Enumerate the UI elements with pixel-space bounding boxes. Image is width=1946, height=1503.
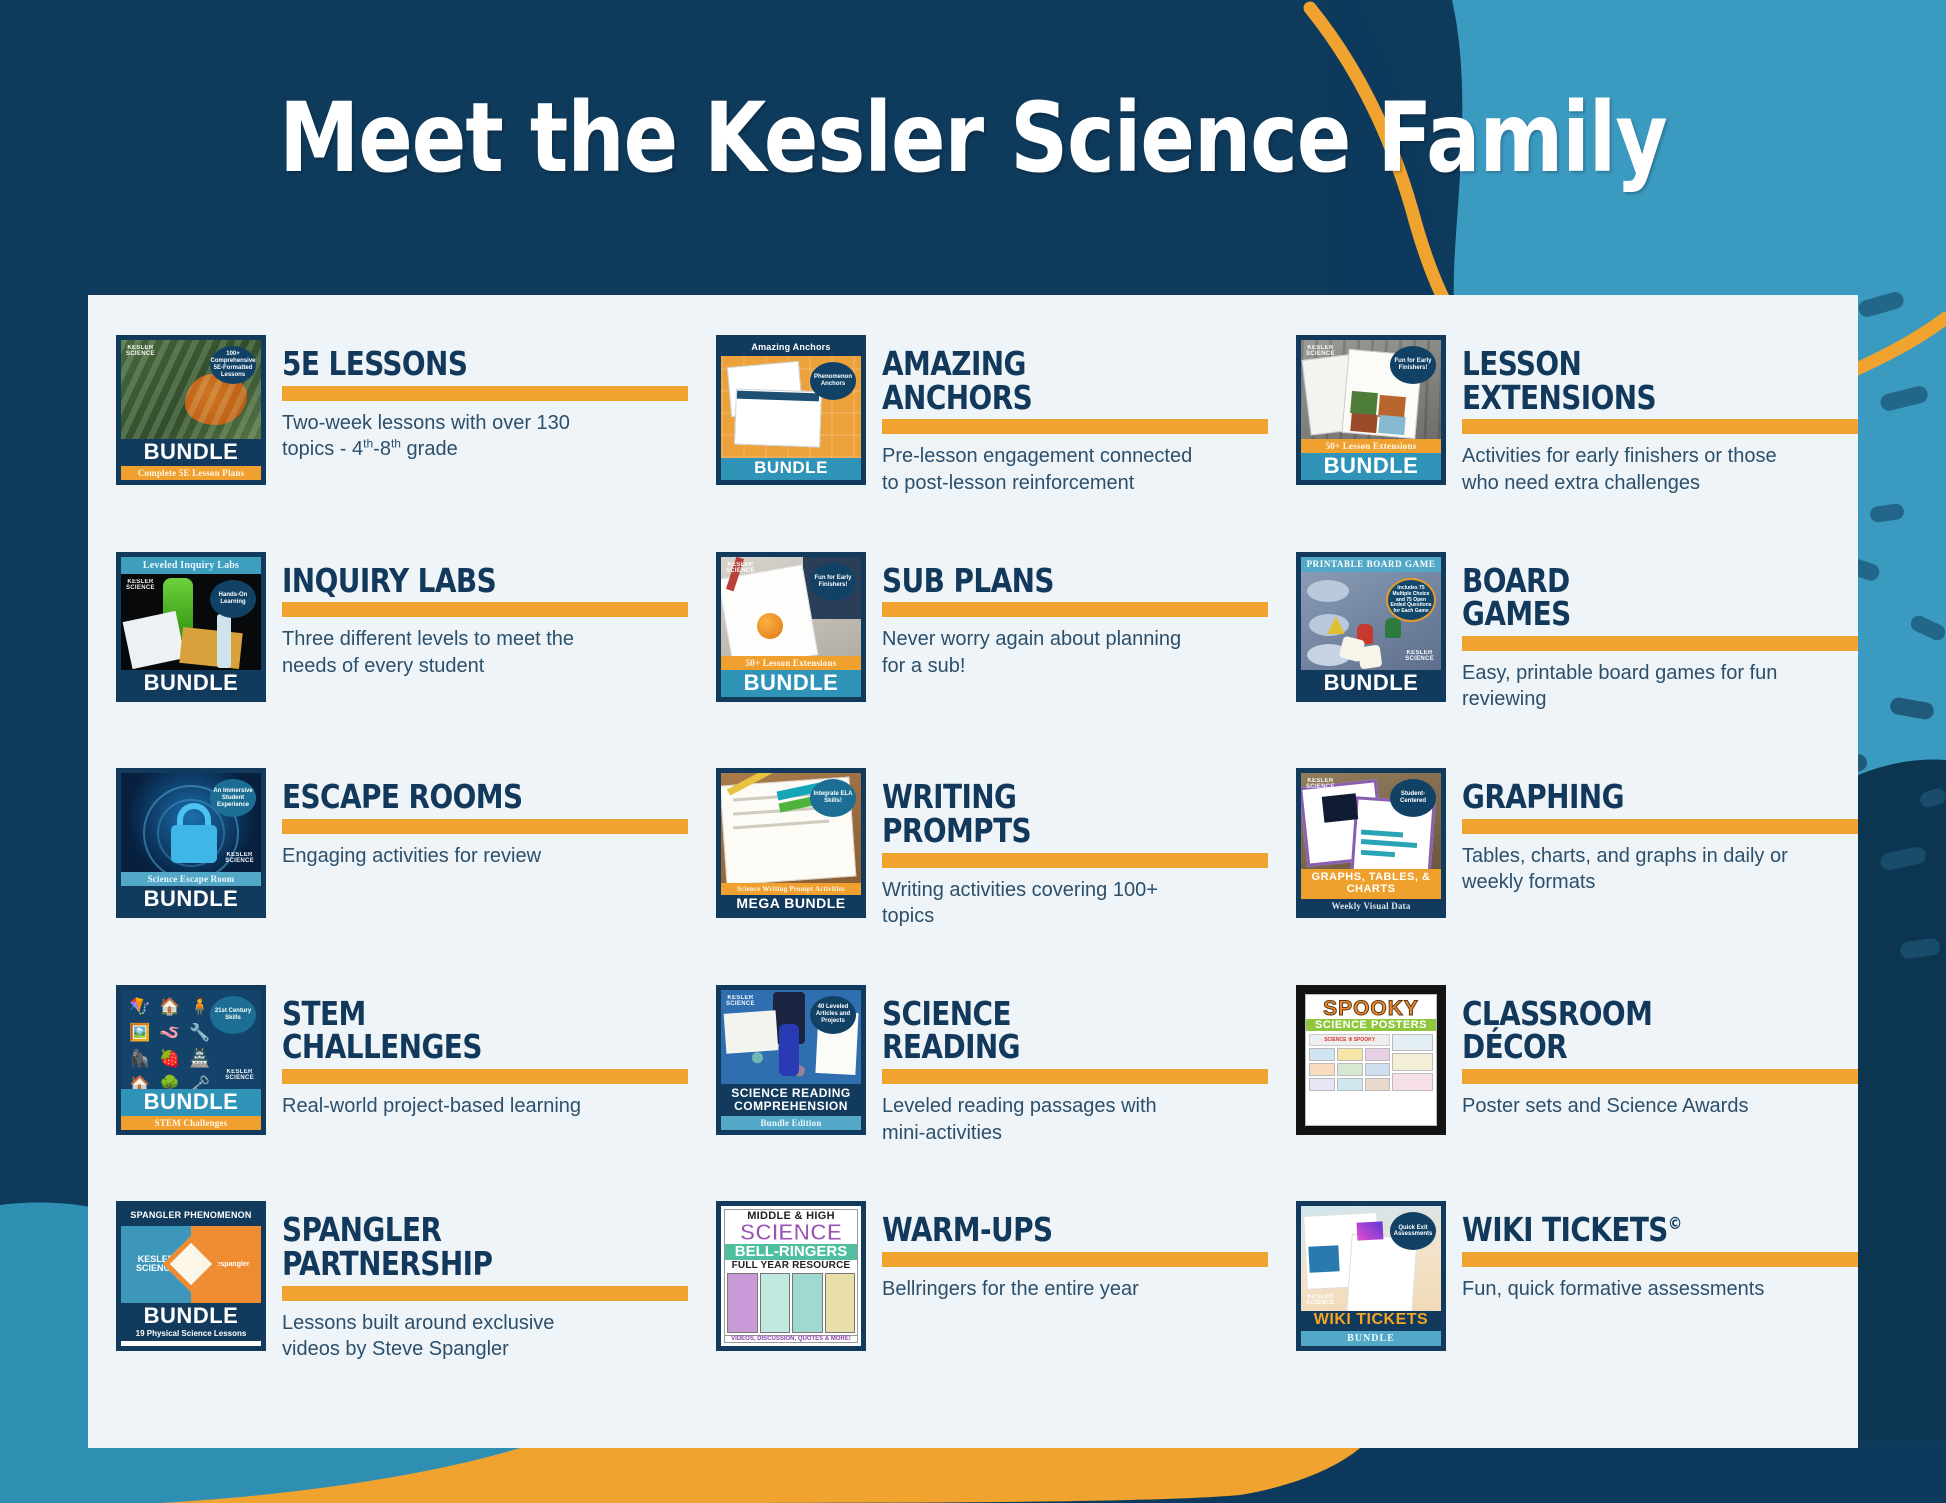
product-card-writing-prompts[interactable]: Integrate ELA Skills! Science Writing Pr… xyxy=(688,768,1268,985)
product-grid: KESLERSCIENCE 100+ Comprehensive 5E-Form… xyxy=(88,295,1858,1448)
thumbnail-sub-label: 19 Physical Science Lessons xyxy=(121,1330,261,1342)
bundle-label: BUNDLE xyxy=(1301,453,1441,480)
product-card-lesson-extensions[interactable]: KESLERSCIENCE Fun for Early Finishers! 5… xyxy=(1268,335,1858,552)
bundle-label: GRAPHS, TABLES, & CHARTS xyxy=(1301,869,1441,899)
thumbnail-badge: An Immersive Student Experience xyxy=(210,779,256,817)
accent-rule xyxy=(282,819,688,834)
thumbnail-strip: Weekly Visual Data xyxy=(1301,899,1441,913)
thumbnail-strip: 50+ Lesson Extensions xyxy=(721,656,861,670)
thumbnail-image: KESLERSCIENCE Fun for Early Finishers! xyxy=(1301,340,1441,439)
thumbnail-badge: Quick Exit Assessments xyxy=(1390,1212,1436,1250)
kesler-science-logo-icon: KESLERSCIENCE xyxy=(126,345,155,357)
product-card-inquiry-labs[interactable]: Leveled Inquiry Labs KESLERSCIENCE Hands… xyxy=(88,552,688,769)
product-card-board-games[interactable]: PRINTABLE BOARD GAME KESLERSCIENCE Inclu… xyxy=(1268,552,1858,769)
thumbnail-image: SPOOKY SCIENCE POSTERS SCIENCE ⚗ SPOOKY xyxy=(1305,994,1437,1126)
kesler-science-logo-icon: KESLERSCIENCE xyxy=(726,995,755,1007)
thumbnail-board-games[interactable]: PRINTABLE BOARD GAME KESLERSCIENCE Inclu… xyxy=(1296,552,1446,702)
thumbnail-image: 🪁🏠🧍 🖼️🪱🔧 🦍🍓🏯 🏠🌳🗝️ KESLERSCIENCE 21st Cen… xyxy=(121,990,261,1089)
card-description: Never worry again about planning for a s… xyxy=(882,626,1202,679)
product-card-classroom-decor[interactable]: SPOOKY SCIENCE POSTERS SCIENCE ⚗ SPOOKY xyxy=(1268,985,1858,1202)
thumbnail-image: KESLERSCIENCE 100+ Comprehensive 5E-Form… xyxy=(121,340,261,439)
kesler-science-logo-icon: KESLERSCIENCE xyxy=(726,562,755,574)
thumbnail-graphing[interactable]: KESLERSCIENCE Student-Centered GRAPHS, T… xyxy=(1296,768,1446,918)
cover-line-science: SCIENCE xyxy=(725,1222,857,1244)
product-card-5e-lessons[interactable]: KESLERSCIENCE 100+ Comprehensive 5E-Form… xyxy=(88,335,688,552)
card-title: 5E LESSONS xyxy=(282,347,664,381)
card-title: GRAPHING xyxy=(1462,780,1834,814)
thumbnail-badge: Includes 75 Multiple Choice and 75 Open … xyxy=(1386,578,1436,622)
card-title: INQUIRY LABS xyxy=(282,564,664,598)
thumbnail-5e-lessons[interactable]: KESLERSCIENCE 100+ Comprehensive 5E-Form… xyxy=(116,335,266,485)
copyright-icon: © xyxy=(1668,1214,1682,1234)
accent-rule xyxy=(1462,819,1858,834)
card-description: Fun, quick formative assessments xyxy=(1462,1276,1792,1302)
accent-rule xyxy=(882,1069,1268,1084)
thumbnail-badge: Fun for Early Finishers! xyxy=(810,563,856,601)
card-description: Poster sets and Science Awards xyxy=(1462,1093,1792,1119)
kesler-science-logo-icon: KESLERSCIENCE xyxy=(1306,345,1335,357)
thumbnail-spangler-partnership[interactable]: SPANGLER PHENOMENON KESLERSCIENCE steves… xyxy=(116,1201,266,1351)
bottom-wave-band xyxy=(0,1448,1946,1503)
thumbnail-strip: Science Writing Prompt Activities xyxy=(721,883,861,895)
thumbnail-image: KESLERSCIENCE Fun for Early Finishers! xyxy=(721,557,861,656)
cover-line-full-year: FULL YEAR RESOURCE xyxy=(725,1260,857,1271)
thumbnail-image: KESLERSCIENCE Student-Centered xyxy=(1301,773,1441,869)
card-title: SUB PLANS xyxy=(882,564,1245,598)
thumbnail-top-label: Amazing Anchors xyxy=(721,340,861,356)
bundle-label: BUNDLE xyxy=(121,1089,261,1116)
card-title: BOARDGAMES xyxy=(1462,564,1834,631)
thumbnail-strip: STEM Challenges xyxy=(121,1116,261,1130)
card-description: Bellringers for the entire year xyxy=(882,1276,1242,1302)
card-description: Tables, charts, and graphs in daily or w… xyxy=(1462,843,1792,896)
product-card-warm-ups[interactable]: MIDDLE & HIGH SCIENCE BELL-RINGERS FULL … xyxy=(688,1201,1268,1418)
thumbnail-image: KESLERSCIENCE Includes 75 Multiple Choic… xyxy=(1301,572,1441,669)
card-title: LESSONEXTENSIONS xyxy=(1462,347,1834,414)
card-description: Easy, printable board games for fun revi… xyxy=(1462,660,1792,713)
bundle-label: MEGA BUNDLE xyxy=(721,895,861,914)
accent-rule xyxy=(882,853,1268,868)
product-card-wiki-tickets[interactable]: KESLERSCIENCE Quick Exit Assessments WIK… xyxy=(1268,1201,1858,1418)
thumbnail-wiki-tickets[interactable]: KESLERSCIENCE Quick Exit Assessments WIK… xyxy=(1296,1201,1446,1351)
accent-rule xyxy=(1462,1069,1858,1084)
poster-heading-science-posters: SCIENCE POSTERS xyxy=(1306,1019,1436,1031)
thumbnail-sub-plans[interactable]: KESLERSCIENCE Fun for Early Finishers! 5… xyxy=(716,552,866,702)
thumbnail-badge: Hands-On Learning xyxy=(210,580,256,618)
thumbnail-strip: 50+ Lesson Extensions xyxy=(1301,439,1441,453)
thumbnail-badge: Student-Centered xyxy=(1390,779,1436,817)
bundle-label: BUNDLE xyxy=(121,886,261,913)
thumbnail-strip: Science Escape Room xyxy=(121,872,261,886)
kesler-science-logo-icon: KESLERSCIENCE xyxy=(1306,1294,1335,1306)
thumbnail-top-label: PRINTABLE BOARD GAME xyxy=(1301,557,1441,573)
card-description: Pre-lesson engagement connected to post-… xyxy=(882,443,1202,496)
bundle-label: BUNDLE xyxy=(121,670,261,697)
product-card-spangler-partnership[interactable]: SPANGLER PHENOMENON KESLERSCIENCE steves… xyxy=(88,1201,688,1418)
card-description: Writing activities covering 100+ topics xyxy=(882,877,1202,930)
accent-rule xyxy=(282,602,688,617)
bundle-label: BUNDLE xyxy=(121,1303,261,1330)
thumbnail-image: Phenomenon Anchors xyxy=(721,356,861,458)
kesler-science-logo-icon: KESLERSCIENCE xyxy=(225,1069,254,1081)
accent-rule xyxy=(882,602,1268,617)
content-panel: KESLERSCIENCE 100+ Comprehensive 5E-Form… xyxy=(88,295,1858,1448)
accent-rule xyxy=(1462,419,1858,434)
thumbnail-badge: Phenomenon Anchors xyxy=(810,362,856,400)
accent-rule xyxy=(882,419,1268,434)
thumbnail-strip xyxy=(121,1341,261,1346)
card-title: SPANGLERPARTNERSHIP xyxy=(282,1213,664,1280)
product-card-science-reading[interactable]: KESLERSCIENCE 40 Leveled Articles and Pr… xyxy=(688,985,1268,1202)
kesler-science-logo-icon: KESLERSCIENCE xyxy=(1405,650,1434,662)
product-card-stem-challenges[interactable]: 🪁🏠🧍 🖼️🪱🔧 🦍🍓🏯 🏠🌳🗝️ KESLERSCIENCE 21st Cen… xyxy=(88,985,688,1202)
thumbnail-top-label: Leveled Inquiry Labs xyxy=(121,557,261,574)
thumbnail-badge: Integrate ELA Skills! xyxy=(810,779,856,817)
cover-line-bellringers: BELL-RINGERS xyxy=(725,1244,857,1260)
thumbnail-top-label: SPANGLER PHENOMENON xyxy=(121,1206,261,1226)
card-title: STEMCHALLENGES xyxy=(282,997,664,1064)
page-title: Meet the Kesler Science Family xyxy=(68,88,1878,189)
accent-rule xyxy=(282,1069,688,1084)
card-title: WIKI TICKETS© xyxy=(1462,1213,1834,1247)
bundle-label: BUNDLE xyxy=(721,670,861,697)
thumbnail-strip: Bundle Edition xyxy=(721,1116,861,1130)
thumbnail-image: KESLERSCIENCE 40 Leveled Articles and Pr… xyxy=(721,990,861,1084)
thumbnail-warm-ups[interactable]: MIDDLE & HIGH SCIENCE BELL-RINGERS FULL … xyxy=(716,1201,866,1351)
card-title: SCIENCEREADING xyxy=(882,997,1245,1064)
card-title: CLASSROOMDÉCOR xyxy=(1462,997,1834,1064)
card-description: Activities for early finishers or those … xyxy=(1462,443,1792,496)
accent-rule xyxy=(1462,1252,1858,1267)
thumbnail-image: KESLERSCIENCE Hands-On Learning xyxy=(121,574,261,670)
bundle-label: BUNDLE xyxy=(121,439,261,466)
card-title: WARM-UPS xyxy=(882,1213,1245,1247)
poster-heading-spooky: SPOOKY xyxy=(1306,995,1436,1019)
card-title: ESCAPE ROOMS xyxy=(282,780,664,814)
thumbnail-science-reading[interactable]: KESLERSCIENCE 40 Leveled Articles and Pr… xyxy=(716,985,866,1135)
bundle-label: BUNDLE xyxy=(721,458,861,480)
thumbnail-amazing-anchors[interactable]: Amazing Anchors Phenomenon Anchors BUNDL… xyxy=(716,335,866,485)
thumbnail-image: KESLERSCIENCE stevespangler xyxy=(121,1226,261,1302)
kesler-science-logo-icon: KESLERSCIENCE xyxy=(126,579,155,591)
thumbnail-strip: BUNDLE xyxy=(1301,1331,1441,1346)
product-card-amazing-anchors[interactable]: Amazing Anchors Phenomenon Anchors BUNDL… xyxy=(688,335,1268,552)
thumbnail-lesson-extensions[interactable]: KESLERSCIENCE Fun for Early Finishers! 5… xyxy=(1296,335,1446,485)
thumbnail-stem-challenges[interactable]: 🪁🏠🧍 🖼️🪱🔧 🦍🍓🏯 🏠🌳🗝️ KESLERSCIENCE 21st Cen… xyxy=(116,985,266,1135)
card-description: Two-week lessons with over 130 topics - … xyxy=(282,410,602,463)
card-description: Three different levels to meet the needs… xyxy=(282,626,602,679)
accent-rule xyxy=(282,1286,688,1301)
product-card-graphing[interactable]: KESLERSCIENCE Student-Centered GRAPHS, T… xyxy=(1268,768,1858,985)
thumbnail-inquiry-labs[interactable]: Leveled Inquiry Labs KESLERSCIENCE Hands… xyxy=(116,552,266,702)
thumbnail-badge: 100+ Comprehensive 5E-Formatted Lessons xyxy=(210,346,256,384)
bundle-label: WIKI TICKETS xyxy=(1301,1311,1441,1332)
product-card-escape-rooms[interactable]: KESLERSCIENCE An Immersive Student Exper… xyxy=(88,768,688,985)
thumbnail-classroom-decor[interactable]: SPOOKY SCIENCE POSTERS SCIENCE ⚗ SPOOKY xyxy=(1296,985,1446,1135)
kesler-science-logo-icon: KESLERSCIENCE xyxy=(1306,778,1335,790)
bundle-label: BUNDLE xyxy=(1301,670,1441,697)
thumbnail-image: Integrate ELA Skills! xyxy=(721,773,861,882)
kesler-science-logo-icon: KESLERSCIENCE xyxy=(225,852,254,864)
accent-rule xyxy=(282,386,688,401)
thumbnail-escape-rooms[interactable]: KESLERSCIENCE An Immersive Student Exper… xyxy=(116,768,266,918)
card-description: Lessons built around exclusive videos by… xyxy=(282,1310,602,1363)
accent-rule xyxy=(1462,636,1858,651)
thumbnail-badge: 40 Leveled Articles and Projects xyxy=(810,996,856,1034)
thumbnail-writing-prompts[interactable]: Integrate ELA Skills! Science Writing Pr… xyxy=(716,768,866,918)
product-card-sub-plans[interactable]: KESLERSCIENCE Fun for Early Finishers! 5… xyxy=(688,552,1268,769)
card-title: WRITINGPROMPTS xyxy=(882,780,1245,847)
thumbnail-strip: Complete 5E Lesson Plans xyxy=(121,466,261,480)
thumbnail-badge: 21st Century Skills xyxy=(210,996,256,1034)
accent-rule xyxy=(882,1252,1268,1267)
thumbnail-image: MIDDLE & HIGH SCIENCE BELL-RINGERS FULL … xyxy=(724,1209,858,1343)
card-description: Engaging activities for review xyxy=(282,843,602,869)
card-description: Leveled reading passages with mini-activ… xyxy=(882,1093,1202,1146)
thumbnail-image: KESLERSCIENCE An Immersive Student Exper… xyxy=(121,773,261,872)
cover-footer: VIDEOS, DISCUSSION, QUOTES & MORE! xyxy=(725,1335,857,1342)
card-title: AMAZINGANCHORS xyxy=(882,347,1245,414)
thumbnail-image: KESLERSCIENCE Quick Exit Assessments xyxy=(1301,1206,1441,1310)
card-description: Real-world project-based learning xyxy=(282,1093,602,1119)
thumbnail-badge: Fun for Early Finishers! xyxy=(1390,346,1436,384)
bundle-label: SCIENCE READING COMPREHENSION xyxy=(721,1084,861,1116)
